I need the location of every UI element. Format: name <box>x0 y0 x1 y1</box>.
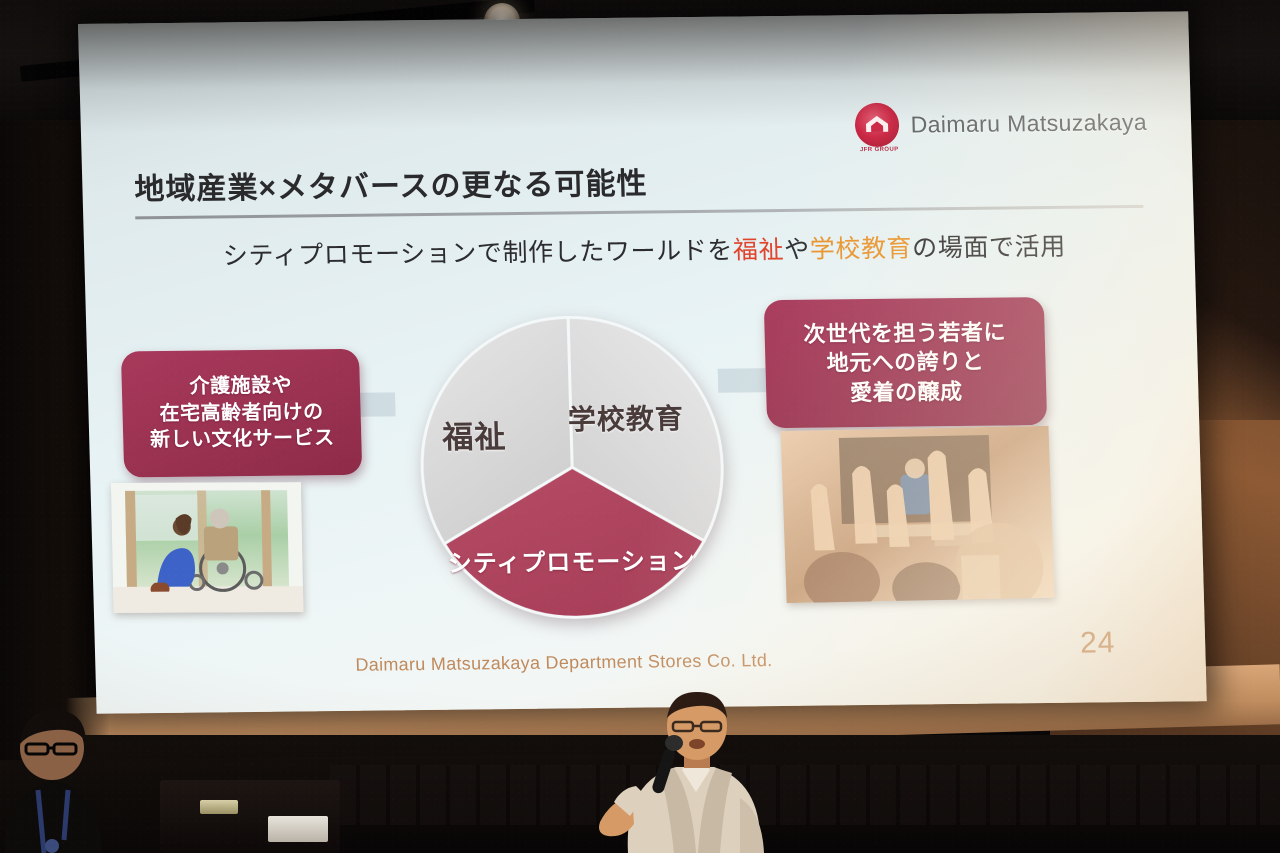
jfr-group-logo-icon: JFR GROUP <box>854 103 899 147</box>
equipment-label <box>200 800 238 814</box>
callout-left-line-2: 在宅高齢者向けの <box>159 399 324 427</box>
callout-left-line-1: 介護施設や <box>189 373 292 401</box>
logo-subtext: JFR GROUP <box>851 147 907 154</box>
pie-label-school-education: 学校教育 <box>567 397 684 438</box>
title-block: 地域産業×メタバースの更なる可能性 <box>134 162 1145 219</box>
title-divider <box>135 205 1143 219</box>
projection-screen: JFR GROUP Daimaru Matsuzakaya 地域産業×メタバース… <box>78 11 1207 713</box>
callout-right-line-1: 次世代を担う若者に <box>803 318 1006 349</box>
person-seated-left <box>0 700 190 853</box>
photo-classroom-raised-hands <box>781 426 1055 603</box>
callout-left-welfare: 介護施設や 在宅高齢者向けの 新しい文化サービス <box>121 349 362 478</box>
pie-label-fukushi: 福祉 <box>442 411 507 457</box>
callout-right-line-3: 愛着の醸成 <box>850 376 963 406</box>
subtitle-highlight-education: 学校教育 <box>809 235 912 264</box>
slide-footer: Daimaru Matsuzakaya Department Stores Co… <box>355 650 773 676</box>
callout-right-line-2: 地元への誇りと <box>826 347 984 378</box>
callout-left-line-3: 新しい文化サービス <box>150 425 335 453</box>
presentation-slide: JFR GROUP Daimaru Matsuzakaya 地域産業×メタバース… <box>110 100 1176 692</box>
confidence-monitor <box>268 816 328 842</box>
auditorium-scene: JFR GROUP Daimaru Matsuzakaya 地域産業×メタバース… <box>0 0 1280 853</box>
page-title: 地域産業×メタバースの更なる可能性 <box>134 162 1145 206</box>
brand-name: Daimaru Matsuzakaya <box>910 108 1147 138</box>
photo-caregiver-wheelchair <box>111 482 304 613</box>
slide-subtitle: シティプロモーションで制作したワールドを福祉や学校教育の場面で活用 <box>154 226 1135 273</box>
subtitle-highlight-fukushi: 福祉 <box>733 236 785 265</box>
callout-right-youth: 次世代を担う若者に 地元への誇りと 愛着の醸成 <box>764 297 1047 428</box>
subtitle-part-1: シティプロモーションで制作したワールドを <box>223 237 734 271</box>
speaker-with-microphone <box>570 690 870 853</box>
pie-label-city-promotion: シティプロモーション <box>447 541 696 579</box>
three-segment-pie-diagram: 福祉 学校教育 シティプロモーション <box>403 301 742 635</box>
brand-logo: JFR GROUP Daimaru Matsuzakaya <box>854 100 1148 147</box>
subtitle-part-2: や <box>784 236 810 264</box>
subtitle-part-3: の場面で活用 <box>912 233 1066 263</box>
page-number: 24 <box>1080 626 1116 660</box>
